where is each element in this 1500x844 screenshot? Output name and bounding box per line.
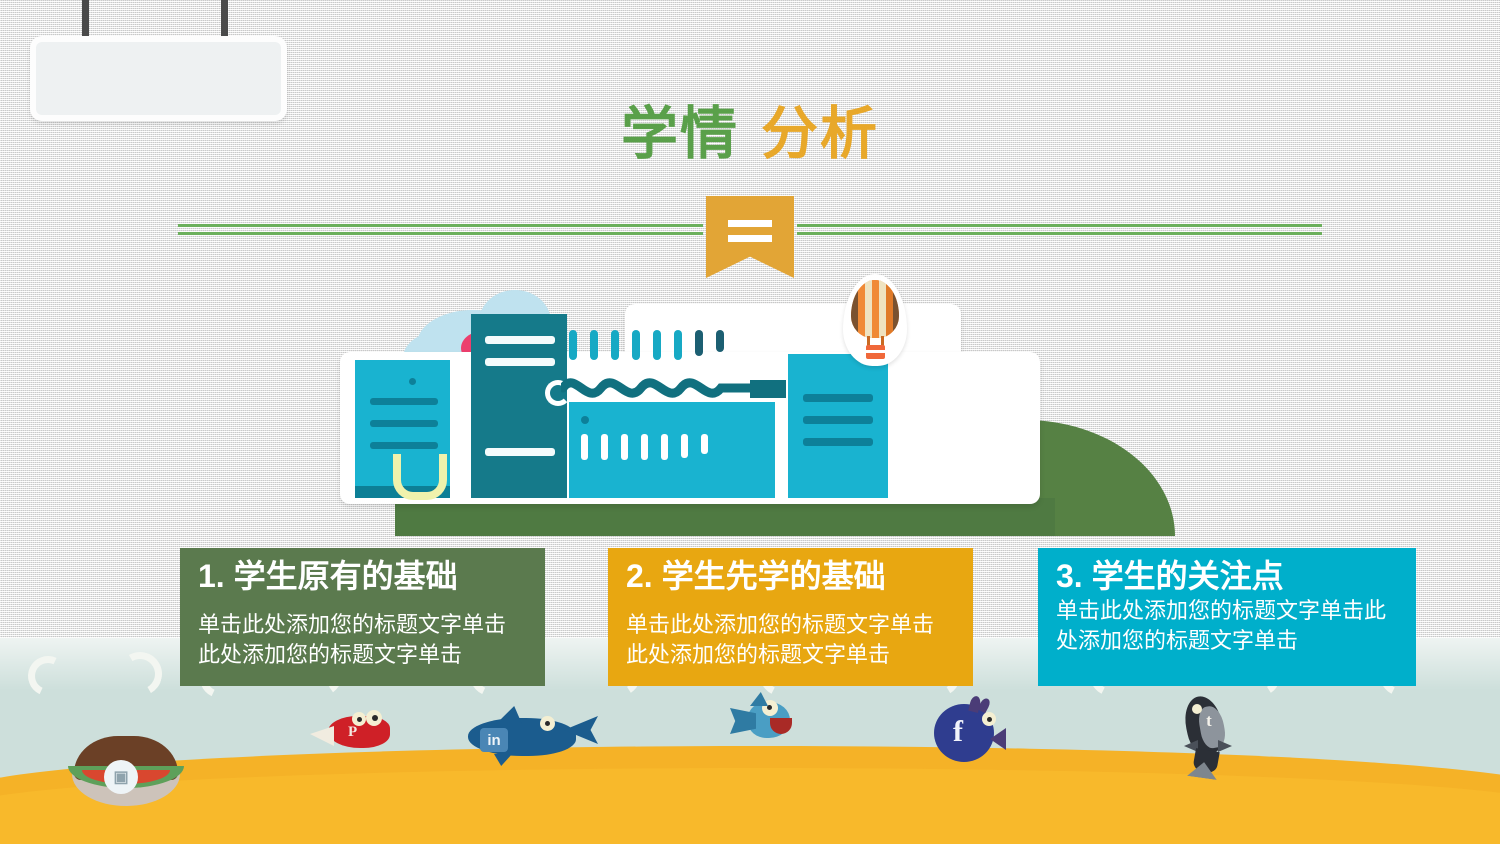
sea-floor-sand-highlight bbox=[0, 768, 1500, 844]
pufferfish-facebook: f bbox=[926, 694, 1010, 766]
hot-air-balloon-icon bbox=[843, 274, 907, 366]
panel-line bbox=[370, 398, 438, 405]
linkedin-badge-icon: in bbox=[480, 728, 508, 752]
info-box-1-body: 单击此处添加您的标题文字单击此处添加您的标题文字单击 bbox=[198, 610, 527, 670]
page-title: 学情分析 bbox=[0, 88, 1500, 170]
ribbon-bar-top bbox=[728, 220, 772, 227]
whale-tumblr: t bbox=[1178, 696, 1242, 786]
info-box-1-heading: 1. 学生原有的基础 bbox=[198, 554, 527, 598]
info-box-3[interactable]: 3. 学生的关注点 单击此处添加您的标题文字单击此处添加您的标题文字单击 bbox=[1038, 548, 1416, 686]
dash-row-top bbox=[569, 330, 769, 360]
three-point-boxes: 1. 学生原有的基础 单击此处添加您的标题文字单击此处添加您的标题文字单击 2.… bbox=[0, 548, 1500, 688]
panel-line bbox=[803, 394, 873, 402]
panel-line bbox=[370, 442, 438, 449]
fish-pinterest: P bbox=[310, 704, 400, 758]
info-box-2[interactable]: 2. 学生先学的基础 单击此处添加您的标题文字单击此处添加您的标题文字单击 bbox=[608, 548, 973, 686]
info-box-3-body: 单击此处添加您的标题文字单击此处添加您的标题文字单击 bbox=[1056, 596, 1398, 656]
info-box-1[interactable]: 1. 学生原有的基础 单击此处添加您的标题文字单击此处添加您的标题文字单击 bbox=[180, 548, 545, 686]
divider-line-left-top bbox=[178, 224, 703, 227]
shark-linkedin: in bbox=[462, 708, 602, 768]
facebook-badge-icon: f bbox=[944, 718, 972, 746]
panel-line bbox=[370, 420, 438, 427]
magnet-u-icon bbox=[393, 454, 447, 500]
book-panel-right bbox=[788, 354, 888, 498]
tumblr-badge-icon: t bbox=[1200, 712, 1218, 730]
panel-dot bbox=[409, 378, 416, 385]
panel-line-white bbox=[485, 448, 555, 456]
panel-dot bbox=[581, 416, 589, 424]
fish-twitter bbox=[726, 692, 802, 752]
books-landscape-illustration bbox=[395, 268, 1035, 530]
divider-line-right-top bbox=[797, 224, 1322, 227]
panel-line bbox=[803, 438, 873, 446]
page-title-secondary: 分析 bbox=[761, 102, 879, 166]
connector-bar bbox=[750, 380, 786, 398]
clam-instagram: ▣ bbox=[60, 726, 190, 806]
info-box-3-heading: 3. 学生的关注点 bbox=[1056, 554, 1316, 598]
instagram-badge-icon: ▣ bbox=[104, 760, 138, 794]
dash-row-bottom bbox=[581, 434, 771, 460]
panel-line bbox=[803, 416, 873, 424]
info-box-2-heading: 2. 学生先学的基础 bbox=[626, 554, 955, 598]
panel-line-white bbox=[485, 358, 555, 366]
info-box-2-body: 单击此处添加您的标题文字单击此处添加您的标题文字单击 bbox=[626, 610, 955, 670]
divider-line-left-bottom bbox=[178, 232, 703, 235]
page-title-primary: 学情 bbox=[621, 102, 739, 166]
divider-line-right-bottom bbox=[797, 232, 1322, 235]
panel-line-white bbox=[485, 336, 555, 344]
slide-root: 学情分析 bbox=[0, 0, 1500, 844]
ribbon-bar-bottom bbox=[728, 235, 772, 242]
